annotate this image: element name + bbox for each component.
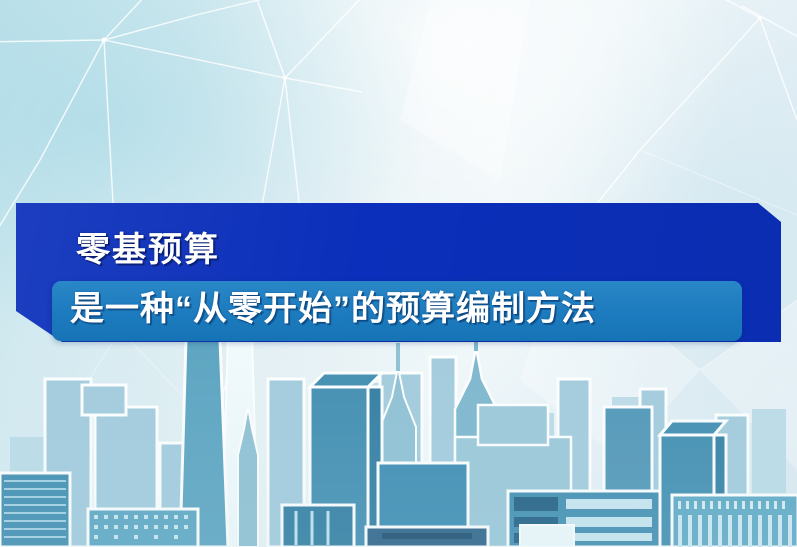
city-skyline-graphic	[0, 287, 797, 547]
slide-canvas: 零基预算 是一种“从零开始”的预算编制方法	[0, 0, 797, 547]
